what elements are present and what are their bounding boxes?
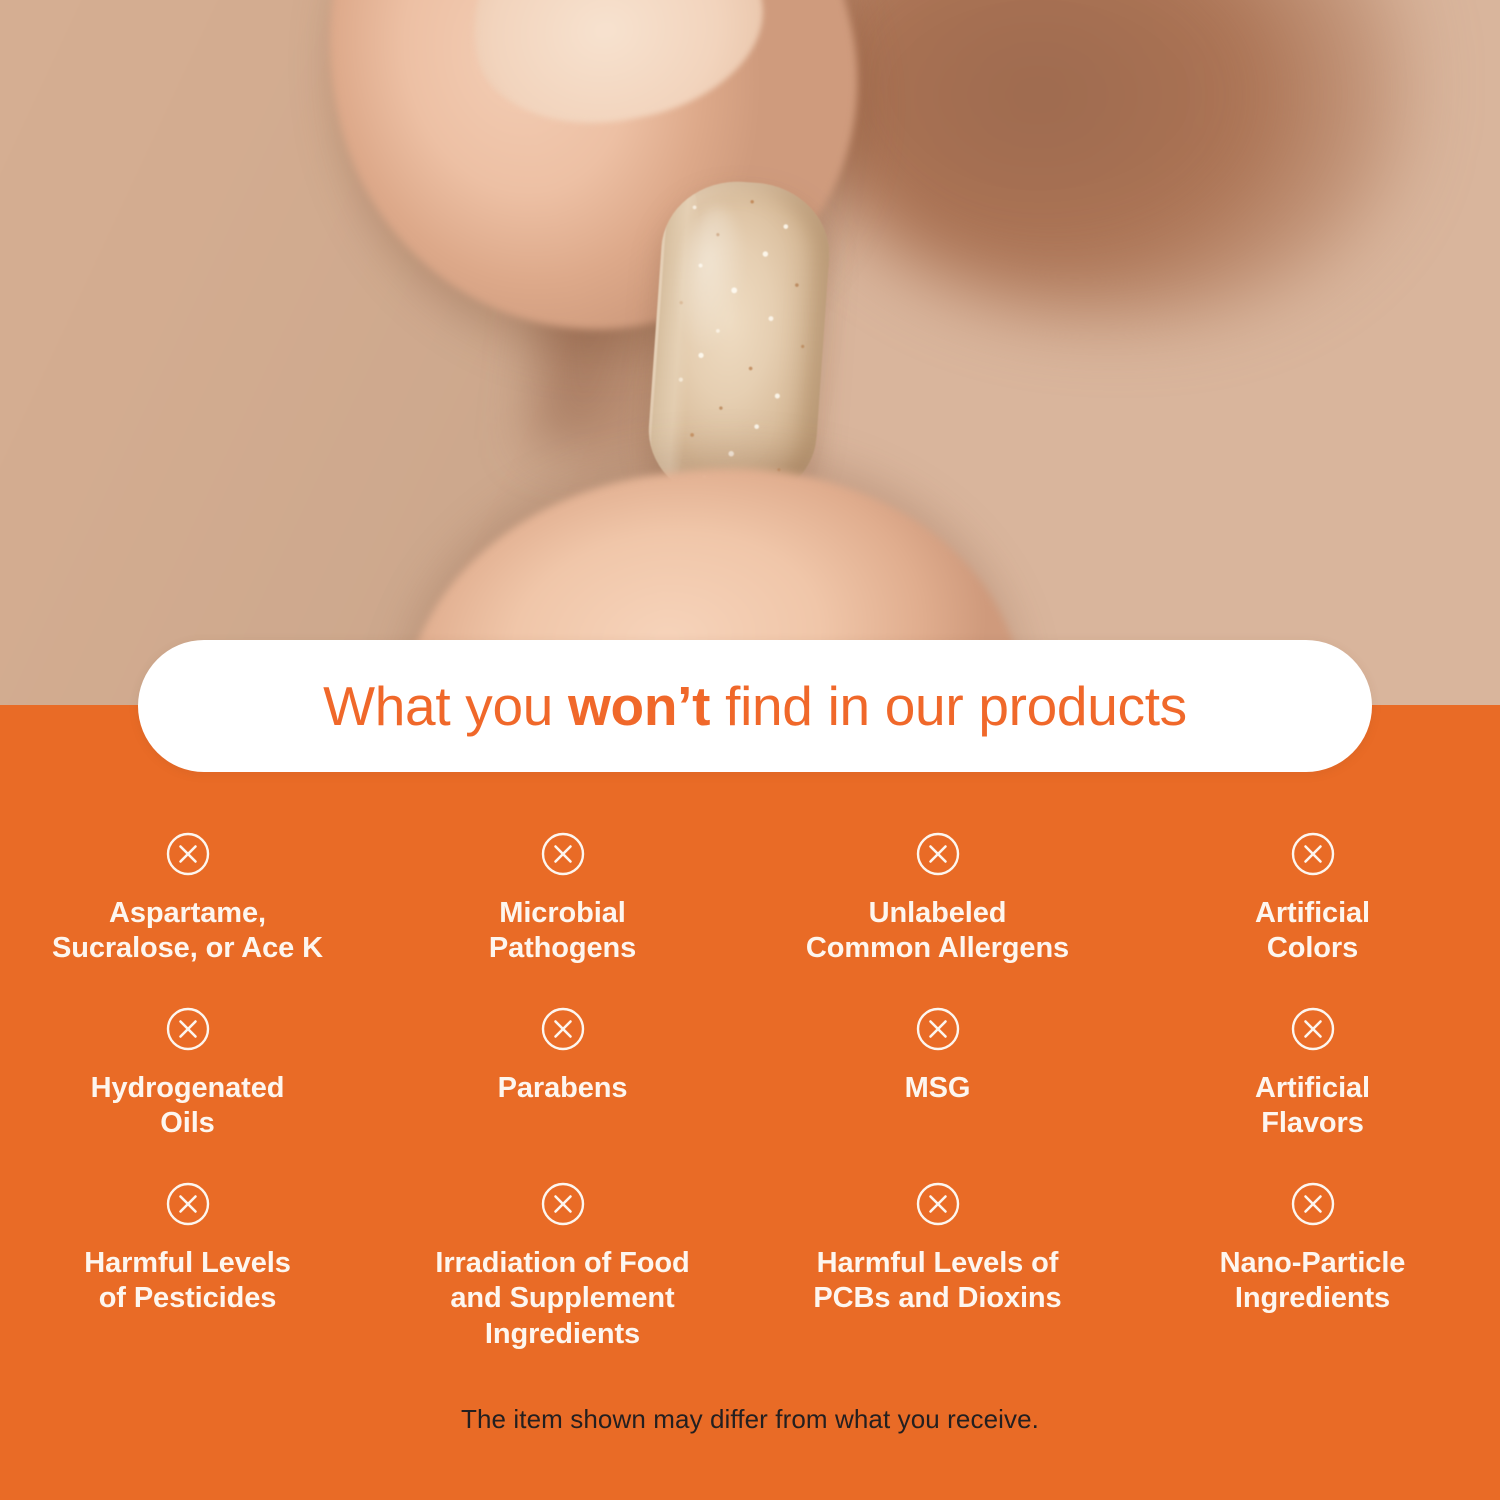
x-circle-icon xyxy=(540,831,586,877)
excluded-item-label: Artificial Colors xyxy=(1143,896,1483,967)
excluded-item: Artificial Flavors xyxy=(1125,993,1500,1168)
page-title: What you won’t find in our products xyxy=(323,674,1187,738)
x-circle-icon xyxy=(540,1181,586,1227)
x-circle-icon xyxy=(540,1006,586,1052)
title-part-after: find in our products xyxy=(710,675,1187,737)
excluded-item-label: Harmful Levels of Pesticides xyxy=(18,1246,358,1317)
excluded-item: MSG xyxy=(750,993,1125,1168)
title-part-before: What you xyxy=(323,675,568,737)
excluded-item-label: Artificial Flavors xyxy=(1143,1071,1483,1142)
x-circle-icon xyxy=(165,1181,211,1227)
excluded-item-label: Harmful Levels of PCBs and Dioxins xyxy=(768,1246,1108,1317)
x-circle-icon xyxy=(165,831,211,877)
title-emphasis: won’t xyxy=(568,675,710,737)
excluded-item-label: Irradiation of Food and Supplement Ingre… xyxy=(393,1246,733,1352)
excluded-item: Harmful Levels of PCBs and Dioxins xyxy=(750,1168,1125,1343)
excluded-item: Irradiation of Food and Supplement Ingre… xyxy=(375,1168,750,1343)
excluded-item-label: Aspartame, Sucralose, or Ace K xyxy=(18,896,358,967)
x-circle-icon xyxy=(915,1006,961,1052)
excluded-item-label: Hydrogenated Oils xyxy=(18,1071,358,1142)
excluded-item: Aspartame, Sucralose, or Ace K xyxy=(0,818,375,993)
excluded-item-label: Unlabeled Common Allergens xyxy=(768,896,1108,967)
x-circle-icon xyxy=(915,1181,961,1227)
excluded-item-label: Nano-Particle Ingredients xyxy=(1143,1246,1483,1317)
title-pill: What you won’t find in our products xyxy=(138,640,1372,772)
excluded-item: Nano-Particle Ingredients xyxy=(1125,1168,1500,1343)
product-claims-infographic: What you won’t find in our products Aspa… xyxy=(0,0,1500,1500)
excluded-item-label: Parabens xyxy=(393,1071,733,1106)
x-circle-icon xyxy=(1290,831,1336,877)
excluded-item: Unlabeled Common Allergens xyxy=(750,818,1125,993)
excluded-item: Parabens xyxy=(375,993,750,1168)
tablet-body xyxy=(644,177,834,508)
excluded-item: Microbial Pathogens xyxy=(375,818,750,993)
excluded-item: Artificial Colors xyxy=(1125,818,1500,993)
x-circle-icon xyxy=(1290,1006,1336,1052)
supplement-tablet xyxy=(644,177,834,508)
excluded-item: Harmful Levels of Pesticides xyxy=(0,1168,375,1343)
x-circle-icon xyxy=(165,1006,211,1052)
x-circle-icon xyxy=(915,831,961,877)
excluded-ingredients-grid: Aspartame, Sucralose, or Ace KMicrobial … xyxy=(0,818,1500,1343)
disclaimer-text: The item shown may differ from what you … xyxy=(0,1404,1500,1435)
excluded-item: Hydrogenated Oils xyxy=(0,993,375,1168)
x-circle-icon xyxy=(1290,1181,1336,1227)
excluded-item-label: MSG xyxy=(768,1071,1108,1106)
excluded-item-label: Microbial Pathogens xyxy=(393,896,733,967)
